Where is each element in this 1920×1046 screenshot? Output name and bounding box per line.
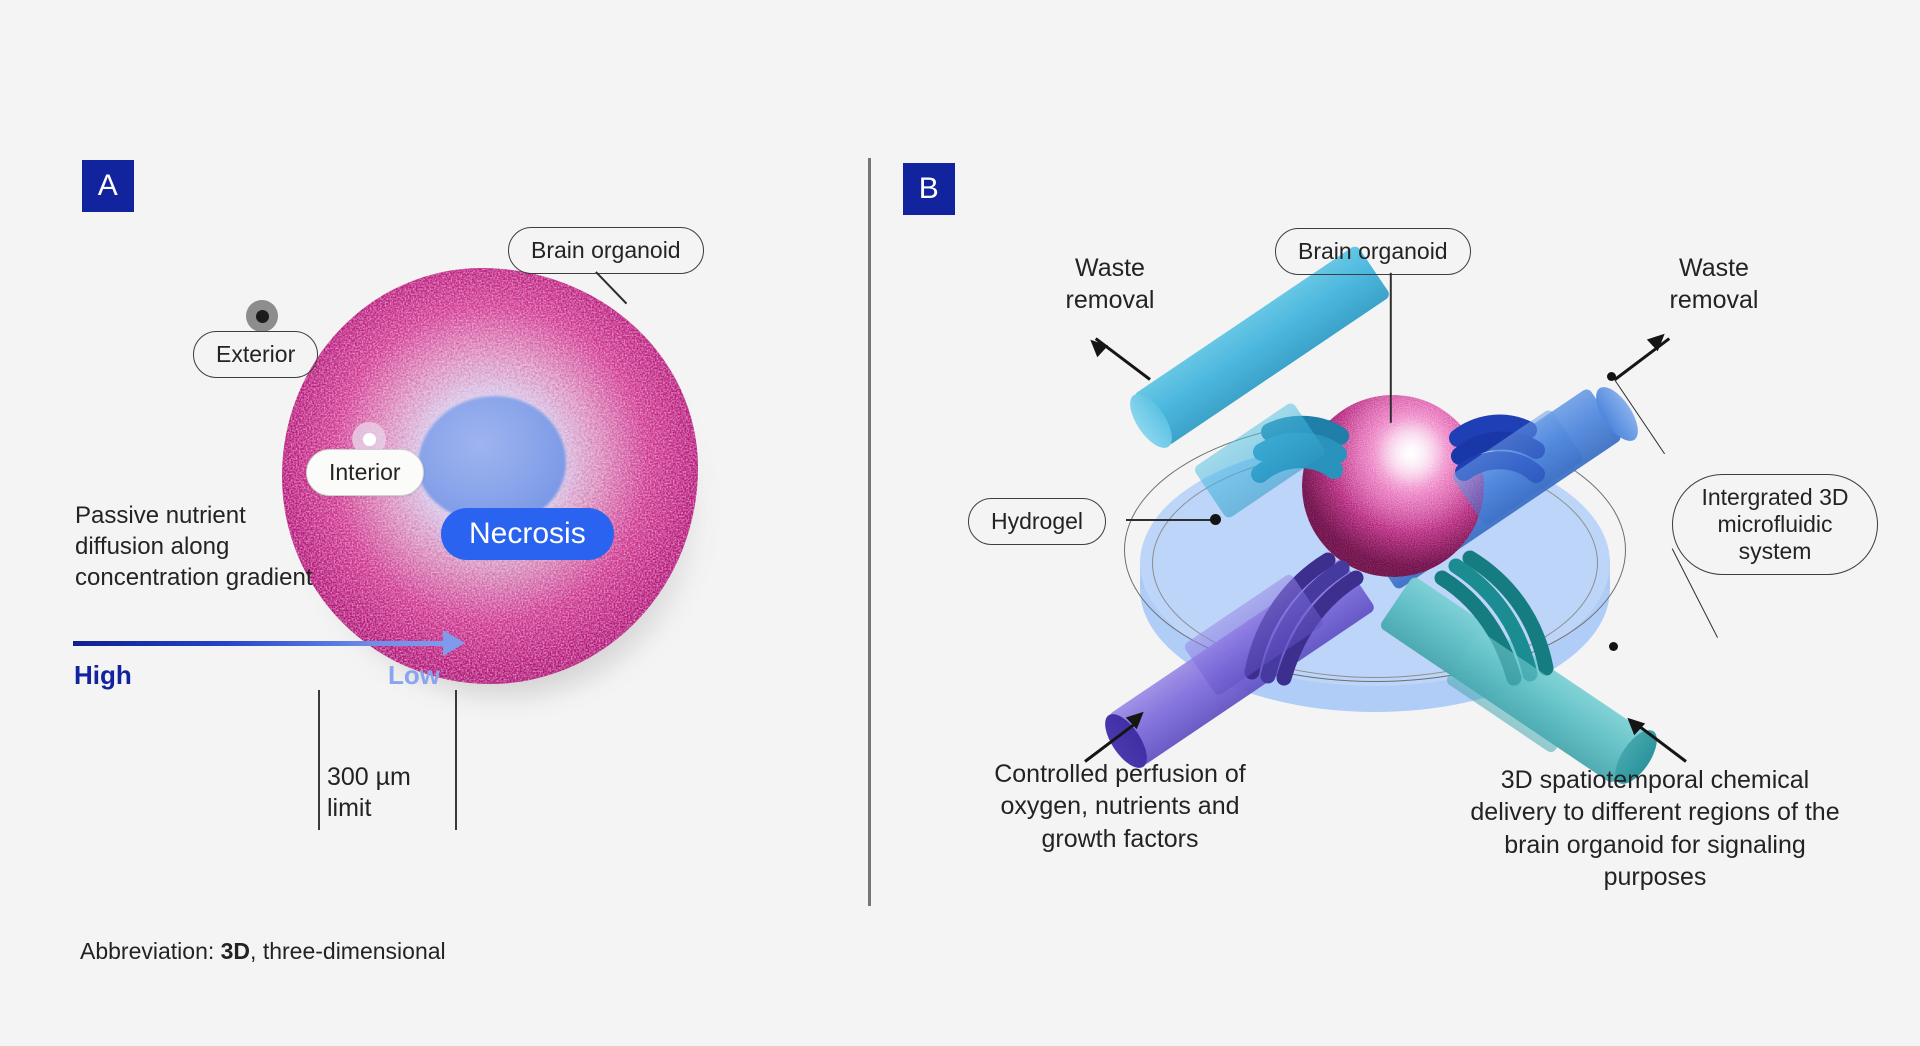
exterior-marker-dot <box>246 300 278 332</box>
limit-tick-left <box>318 690 320 830</box>
label-integrated-microfluidic-system: Intergrated 3D microfluidic system <box>1672 474 1878 575</box>
leader-line-hydrogel <box>1126 519 1216 521</box>
abbreviation-note: Abbreviation: 3D, three-dimensional <box>80 938 446 965</box>
abbreviation-prefix: Abbreviation: <box>80 938 221 964</box>
panel-b-badge: B <box>903 163 955 215</box>
caption-3d-spatiotemporal-delivery: 3D spatiotemporal chemical delivery to d… <box>1455 764 1855 893</box>
label-gradient-low: Low <box>388 660 440 691</box>
label-interior: Interior <box>306 449 424 496</box>
label-hydrogel: Hydrogel <box>968 498 1106 545</box>
figure-canvas: A <box>0 0 1920 1046</box>
panel-a-badge: A <box>82 160 134 212</box>
gradient-arrow-shaft <box>73 641 451 646</box>
label-necrosis: Necrosis <box>441 508 614 560</box>
caption-waste-removal-right: Waste removal <box>1634 252 1794 317</box>
limit-tick-right <box>455 690 457 830</box>
label-exterior: Exterior <box>193 331 318 378</box>
abbreviation-expansion: , three-dimensional <box>250 938 446 964</box>
passive-diffusion-text: Passive nutrient diffusion along concent… <box>75 500 335 594</box>
caption-controlled-perfusion: Controlled perfusion of oxygen, nutrient… <box>970 758 1270 855</box>
abbreviation-term: 3D <box>221 938 250 964</box>
arrow-waste-right-head <box>1647 328 1670 351</box>
necrosis-core-region <box>418 396 566 524</box>
integrated-leader-dot-upper <box>1607 372 1616 381</box>
caption-waste-removal-left: Waste removal <box>1030 252 1190 317</box>
panel-divider <box>868 158 871 906</box>
label-300um-limit: 300 µm limit <box>327 762 453 824</box>
leader-line-brain-organoid-b <box>1390 273 1392 423</box>
label-brain-organoid-b: Brain organoid <box>1275 228 1471 275</box>
label-gradient-high: High <box>74 660 132 691</box>
arrow-waste-left-head <box>1085 334 1108 357</box>
label-brain-organoid-a: Brain organoid <box>508 227 704 274</box>
gradient-arrow-head <box>443 630 465 656</box>
integrated-leader-dot-lower <box>1609 642 1618 651</box>
hydrogel-leader-dot <box>1210 514 1221 525</box>
